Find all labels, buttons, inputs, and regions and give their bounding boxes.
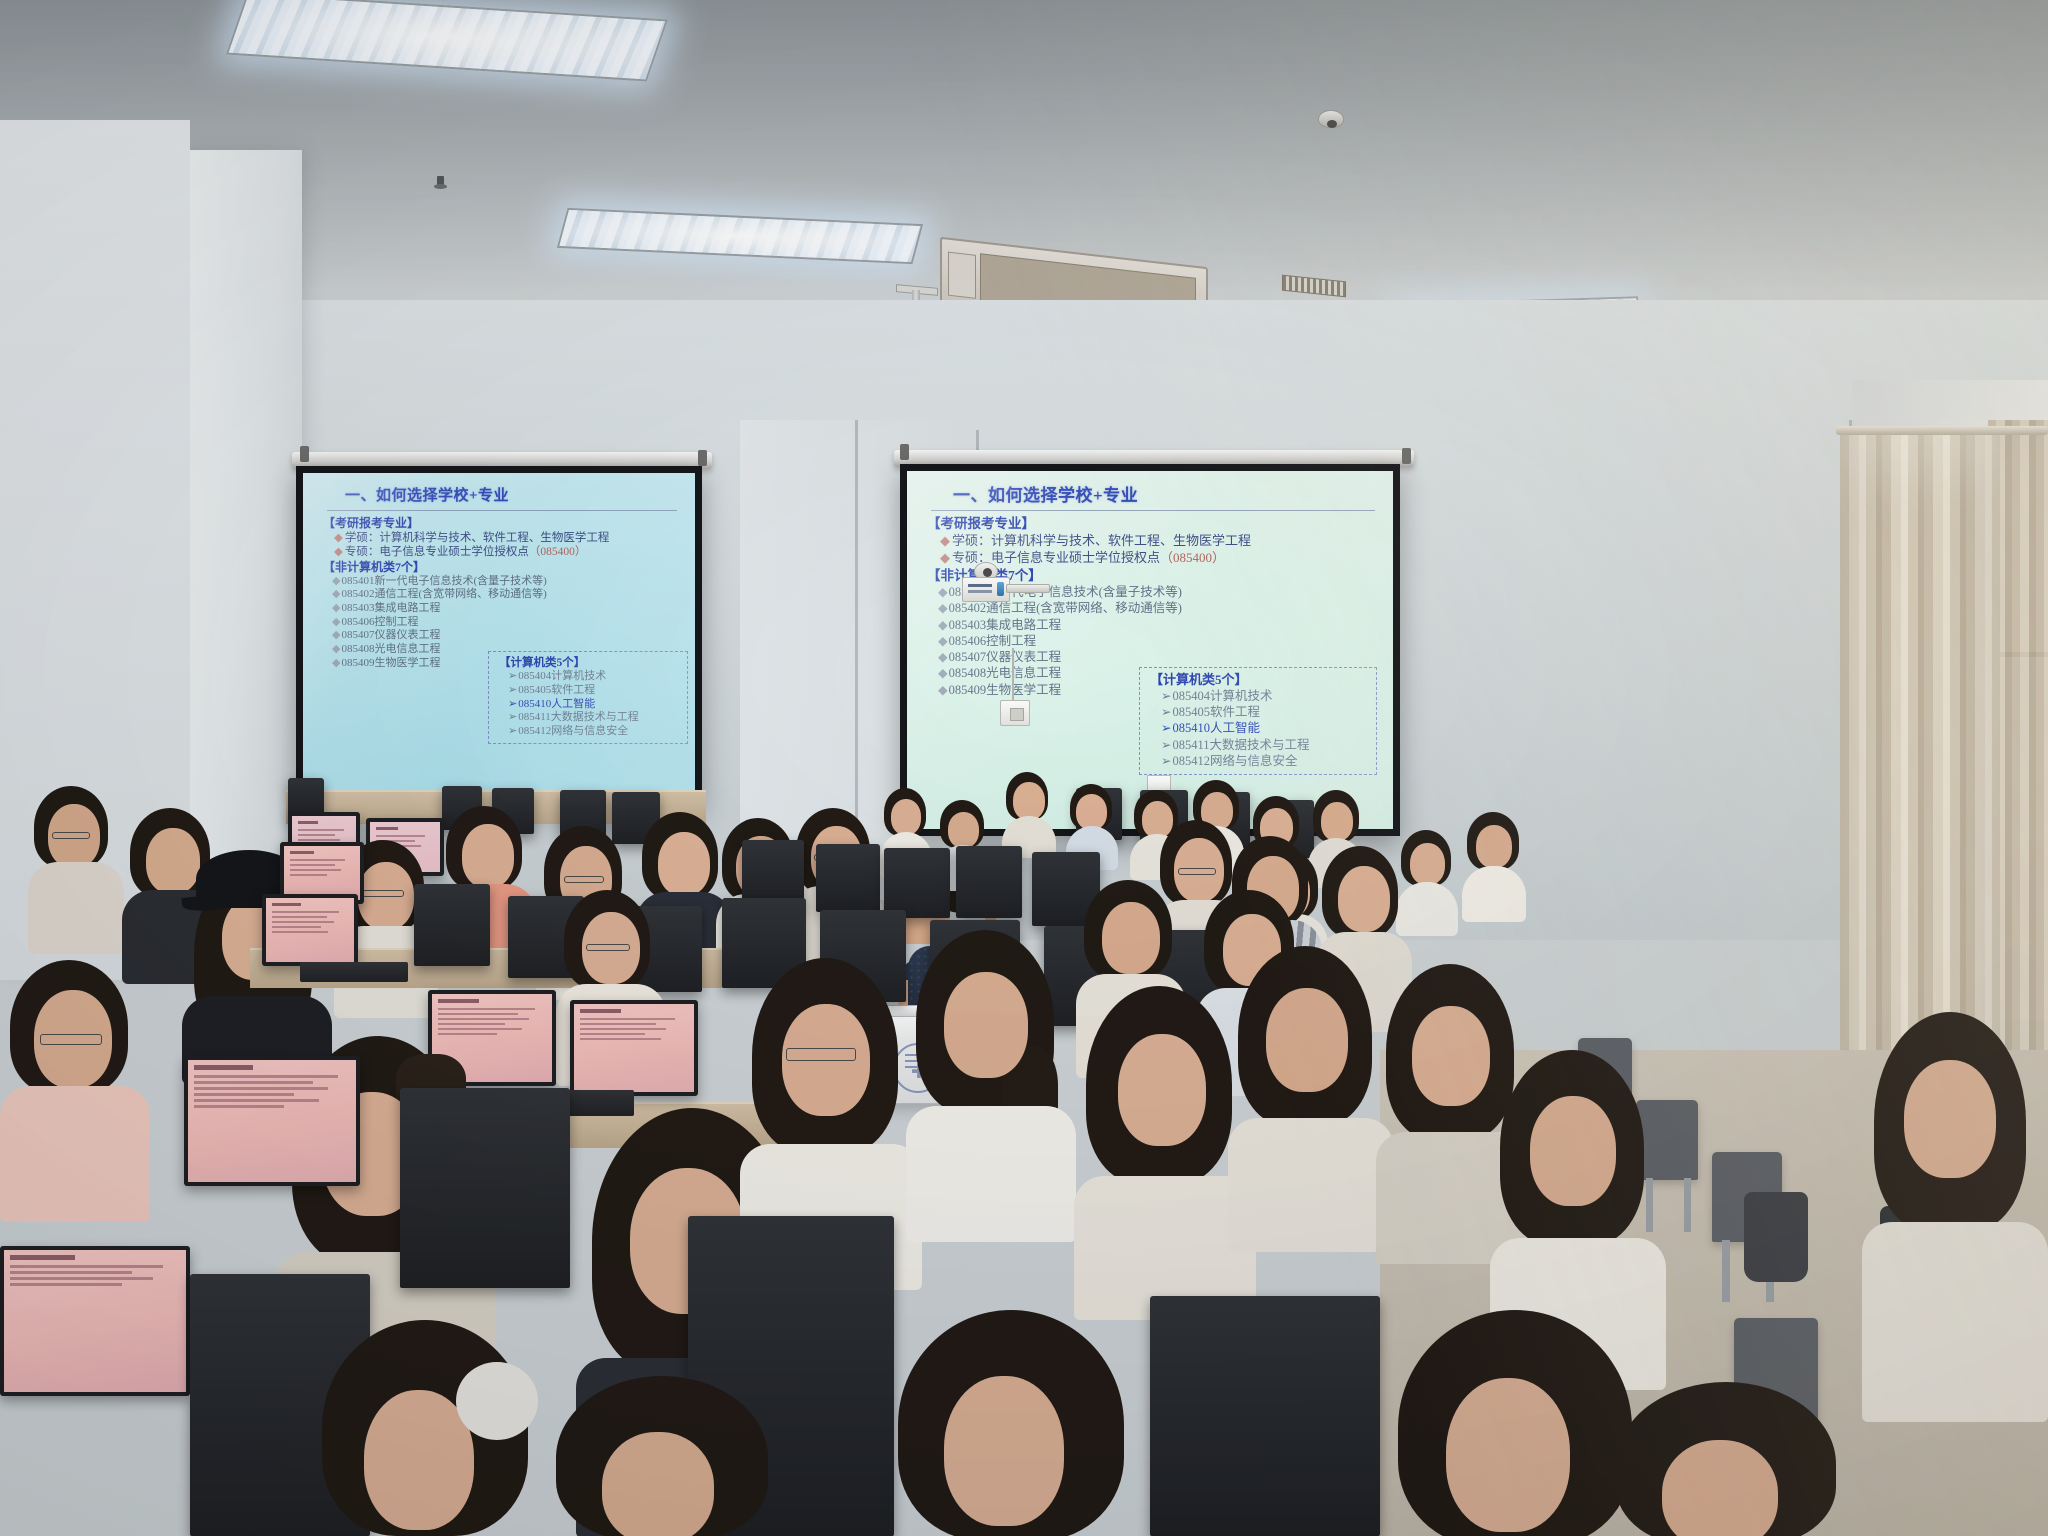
slide-section2-item: ◆085403集成电路工程	[927, 619, 1375, 632]
item-text: 085402通信工程(含宽带网络、移动通信等)	[949, 601, 1182, 615]
item-text: 085403集成电路工程	[341, 602, 440, 614]
box-item-highlighted: ➢085410人工智能	[499, 699, 679, 711]
box-heading: 【计算机类5个】	[499, 657, 679, 669]
item-label: 专硕：	[345, 546, 380, 558]
bullet-diamond-icon: ◆	[332, 602, 340, 614]
bullet-diamond-icon: ◆	[332, 657, 340, 669]
wall-antenna-icon	[1012, 648, 1014, 702]
box-item: ➢085411大数据技术与工程	[499, 712, 679, 724]
item-text: 085409生物医学工程	[341, 657, 440, 669]
wall-network-plate-icon	[1000, 700, 1030, 726]
screen-bracket	[900, 444, 909, 460]
arrow-icon: ➢	[1161, 738, 1171, 752]
box-item: ➢085405软件工程	[499, 685, 679, 697]
item-text: 085410人工智能	[518, 698, 595, 710]
student	[1600, 1382, 1860, 1536]
arrow-icon: ➢	[1161, 721, 1171, 735]
box-item: ➢085405软件工程	[1150, 706, 1368, 719]
eyeglasses-icon	[586, 944, 630, 951]
bullet-diamond-icon: ◆	[332, 575, 340, 587]
item-text: 085410人工智能	[1172, 721, 1260, 735]
item-text: 085402通信工程(含宽带网络、移动通信等)	[341, 588, 546, 600]
bullet-diamond-icon: ◆	[938, 634, 948, 648]
wall-speaker-camera-icon	[962, 562, 1010, 602]
slide-title: 一、如何选择学校+专业	[323, 489, 677, 505]
eyeglasses-icon	[564, 876, 604, 883]
slide-section2-item: ◆085406控制工程	[927, 635, 1375, 648]
computer-monitor[interactable]	[184, 1056, 360, 1186]
arrow-icon: ➢	[508, 670, 517, 682]
slide-section2-item: ◆085401新一代电子信息技术(含量子技术等)	[323, 576, 677, 588]
item-text: 085411大数据技术与工程	[1172, 738, 1309, 752]
slide-section2-item: ◆085406控制工程	[323, 617, 677, 629]
curtain-rod	[1836, 426, 2048, 435]
monitor-rear	[742, 840, 804, 906]
slide-section2-item: ◆085402通信工程(含宽带网络、移动通信等)	[323, 589, 677, 601]
student	[1002, 772, 1056, 852]
computer-monitor[interactable]	[262, 894, 358, 966]
classroom-photo: 一、如何选择学校+专业 【考研报考专业】 ◆学硕：计算机科学与技术、软件工程、生…	[0, 0, 2048, 1536]
bullet-diamond-icon: ◆	[334, 532, 343, 544]
eyeglasses-icon	[40, 1034, 102, 1045]
item-text: 085409生物医学工程	[949, 683, 1062, 697]
slide-section1-heading: 【考研报考专业】	[323, 517, 677, 530]
monitor-rear	[400, 1088, 570, 1288]
box-item: ➢085404计算机技术	[1150, 690, 1368, 703]
bullet-diamond-icon: ◆	[332, 588, 340, 600]
slide-section1-item: ◆学硕：计算机科学与技术、软件工程、生物医学工程	[323, 532, 677, 544]
student	[540, 1376, 790, 1536]
item-text: 085408光电信息工程	[949, 666, 1062, 680]
box-item: ➢085411大数据技术与工程	[1150, 739, 1368, 752]
slide-title: 一、如何选择学校+专业	[927, 487, 1375, 505]
item-text: 085407仪器仪表工程	[949, 650, 1062, 664]
hair-clip	[456, 1362, 538, 1440]
eyeglasses-icon	[362, 890, 404, 897]
monitor-rear	[884, 848, 950, 918]
item-text: 085406控制工程	[341, 616, 418, 628]
eyeglasses-icon	[1178, 868, 1216, 875]
screen-bracket	[1402, 448, 1411, 464]
box-item-highlighted: ➢085410人工智能	[1150, 722, 1368, 735]
student	[1228, 946, 1394, 1242]
item-text: 085412网络与信息安全	[1172, 754, 1297, 768]
box-item: ➢085412网络与信息安全	[499, 726, 679, 738]
slide-title-rule	[931, 510, 1375, 511]
left-projection-screen[interactable]: 一、如何选择学校+专业 【考研报考专业】 ◆学硕：计算机科学与技术、软件工程、生…	[296, 466, 702, 806]
arrow-icon: ➢	[508, 684, 517, 696]
bullet-diamond-icon: ◆	[332, 616, 340, 628]
security-camera-icon	[1318, 110, 1344, 128]
slide-title-rule	[327, 510, 677, 511]
student	[880, 1310, 1150, 1536]
bullet-diamond-icon: ◆	[938, 666, 948, 680]
bullet-diamond-icon: ◆	[938, 601, 948, 615]
monitor-rear	[816, 844, 880, 912]
slide-section1-heading: 【考研报考专业】	[927, 517, 1375, 531]
item-text: 计算机科学与技术、软件工程、生物医学工程	[991, 533, 1251, 548]
backpack	[1744, 1192, 1808, 1282]
item-text: 085404计算机技术	[518, 670, 606, 682]
slide-section2-item: ◆085403集成电路工程	[323, 603, 677, 615]
monitor-rear	[1150, 1296, 1380, 1536]
box-heading: 【计算机类5个】	[1150, 673, 1368, 687]
student	[1862, 1012, 2048, 1412]
item-label: 学硕：	[345, 532, 380, 544]
bullet-diamond-icon: ◆	[940, 550, 950, 565]
item-text: 电子信息专业硕士学位授权点	[379, 546, 529, 558]
slide-callout-box: 【计算机类5个】 ➢085404计算机技术 ➢085405软件工程 ➢08541…	[488, 651, 688, 744]
screen-bracket	[300, 446, 309, 462]
bullet-diamond-icon: ◆	[334, 546, 343, 558]
eyeglasses-icon	[52, 832, 90, 839]
slide-section2-item: ◆085402通信工程(含宽带网络、移动通信等)	[927, 602, 1375, 615]
arrow-icon: ➢	[1161, 689, 1171, 703]
item-text: 085412网络与信息安全	[518, 725, 628, 737]
student	[0, 960, 150, 1210]
slide-section1-item: ◆专硕：电子信息专业硕士学位授权点（085400）	[323, 546, 677, 558]
arrow-icon: ➢	[508, 698, 517, 710]
item-text: 电子信息专业硕士学位授权点	[991, 550, 1160, 565]
item-text: 085408光电信息工程	[341, 643, 440, 655]
item-code: （085400）	[1160, 550, 1225, 565]
bullet-diamond-icon: ◆	[938, 585, 948, 599]
item-text: 085411大数据技术与工程	[518, 711, 639, 723]
bullet-diamond-icon: ◆	[938, 683, 948, 697]
arrow-icon: ➢	[508, 711, 517, 723]
arrow-icon: ➢	[508, 725, 517, 737]
item-text: 计算机科学与技术、软件工程、生物医学工程	[379, 532, 609, 544]
slide-content-left: 一、如何选择学校+专业 【考研报考专业】 ◆学硕：计算机科学与技术、软件工程、生…	[303, 473, 695, 799]
arrow-icon: ➢	[1161, 754, 1171, 768]
item-text: 085403集成电路工程	[949, 618, 1062, 632]
item-text: 085401新一代电子信息技术(含量子技术等)	[341, 575, 546, 587]
screen-bracket	[698, 450, 707, 466]
keyboard[interactable]	[300, 962, 408, 982]
slide-section1-item: ◆学硕：计算机科学与技术、软件工程、生物医学工程	[927, 534, 1375, 548]
bullet-diamond-icon: ◆	[940, 533, 950, 548]
slide-callout-box: 【计算机类5个】 ➢085404计算机技术 ➢085405软件工程 ➢08541…	[1139, 667, 1377, 775]
item-code: （085400）	[529, 546, 587, 558]
student	[306, 1320, 556, 1536]
item-text: 085406控制工程	[949, 634, 1037, 648]
slide-section2-item: ◆085407仪器仪表工程	[323, 630, 677, 642]
item-text: 085404计算机技术	[1172, 689, 1272, 703]
fire-sprinkler-icon	[434, 176, 447, 191]
student	[906, 930, 1076, 1230]
bullet-diamond-icon: ◆	[938, 650, 948, 664]
bullet-diamond-icon: ◆	[332, 629, 340, 641]
monitor-rear	[956, 846, 1022, 918]
slide-section2-item: ◆085407仪器仪表工程	[927, 651, 1375, 664]
arrow-icon: ➢	[1161, 705, 1171, 719]
bullet-diamond-icon: ◆	[332, 643, 340, 655]
eyeglasses-icon	[786, 1048, 856, 1061]
box-item: ➢085404计算机技术	[499, 671, 679, 683]
bullet-diamond-icon: ◆	[938, 618, 948, 632]
slide-section2-heading: 【非计算机类7个】	[323, 561, 677, 574]
computer-monitor[interactable]	[570, 1000, 698, 1096]
item-text: 085405软件工程	[1172, 705, 1260, 719]
item-text: 085407仪器仪表工程	[341, 629, 440, 641]
monitor-rear	[414, 884, 490, 966]
item-text: 085405软件工程	[518, 684, 595, 696]
box-item: ➢085412网络与信息安全	[1150, 755, 1368, 768]
computer-monitor[interactable]	[0, 1246, 190, 1396]
item-label: 学硕：	[952, 533, 991, 548]
student	[1462, 812, 1526, 916]
student	[28, 786, 124, 946]
